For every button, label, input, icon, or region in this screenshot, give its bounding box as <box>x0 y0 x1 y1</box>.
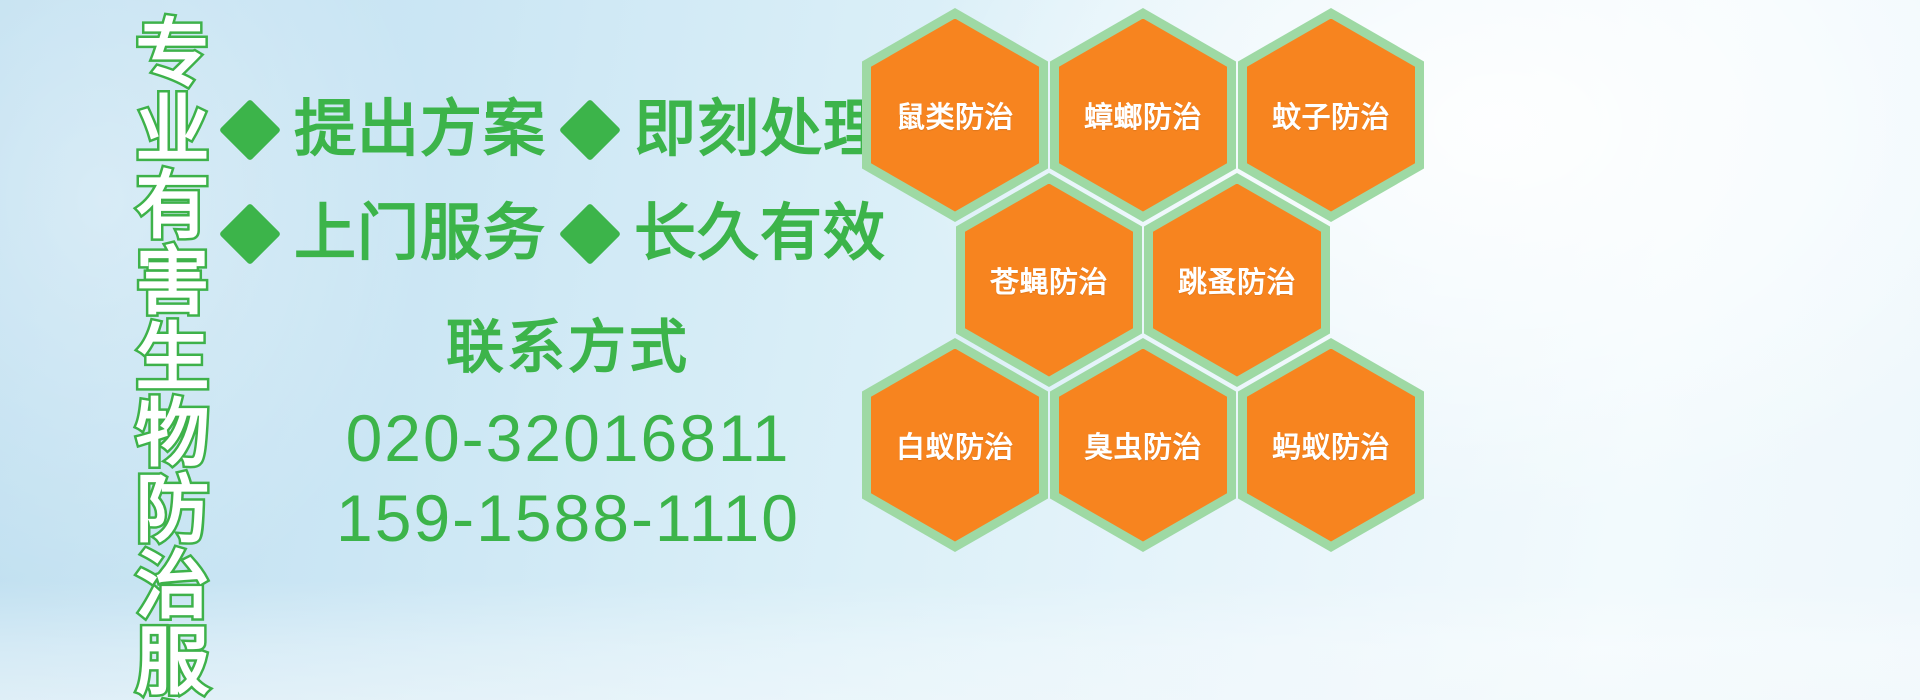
service-hex-inner: 蟑螂防治 <box>1059 19 1227 212</box>
contact-phone-mobile[interactable]: 159-1588-1110 <box>258 478 878 559</box>
diamond-bullet-icon <box>219 99 281 161</box>
service-hex-inner: 白蚁防治 <box>871 349 1039 542</box>
service-hex-inner: 臭虫防治 <box>1059 349 1227 542</box>
diamond-bullet-icon <box>559 203 621 265</box>
service-hex-inner: 跳蚤防治 <box>1153 184 1321 377</box>
feature-label: 即刻处理 <box>634 99 886 161</box>
service-hex-label: 蚂蚁防治 <box>1272 424 1390 466</box>
contact-title: 联系方式 <box>258 316 878 380</box>
feature-item: 长久有效 <box>568 203 886 265</box>
feature-item: 即刻处理 <box>568 99 886 161</box>
service-hex-inner: 蚂蚁防治 <box>1247 349 1415 542</box>
service-hex-label: 蟑螂防治 <box>1084 94 1202 136</box>
feature-row: 上门服务 长久有效 <box>228 182 878 286</box>
service-hex-label: 蚊子防治 <box>1272 94 1390 136</box>
vertical-headline: 专业有害生物防治服务 <box>108 14 204 700</box>
service-hex-inner: 鼠类防治 <box>871 19 1039 212</box>
feature-row: 提出方案 即刻处理 <box>228 78 878 182</box>
service-hex-inner: 苍蝇防治 <box>965 184 1133 377</box>
pest-control-service-banner: 专业有害生物防治服务 提出方案 即刻处理 上门服务 长久有效 联 <box>0 0 1920 700</box>
feature-label: 长久有效 <box>634 203 886 265</box>
service-hex-inner: 蚊子防治 <box>1247 19 1415 212</box>
feature-item: 上门服务 <box>228 203 546 265</box>
service-hex-label: 臭虫防治 <box>1084 424 1202 466</box>
service-hex-label: 白蚁防治 <box>896 424 1014 466</box>
service-hex-label: 苍蝇防治 <box>990 259 1108 301</box>
feature-label: 提出方案 <box>294 99 546 161</box>
contact-phone-landline[interactable]: 020-32016811 <box>258 398 878 479</box>
service-hex-label: 鼠类防治 <box>896 94 1014 136</box>
diamond-bullet-icon <box>219 203 281 265</box>
diamond-bullet-icon <box>559 99 621 161</box>
service-hex-label: 跳蚤防治 <box>1178 259 1296 301</box>
feature-list: 提出方案 即刻处理 上门服务 长久有效 <box>228 78 878 286</box>
background-floor-wash <box>0 580 1920 700</box>
contact-block: 联系方式 020-32016811 159-1588-1110 <box>258 316 878 559</box>
feature-label: 上门服务 <box>294 203 546 265</box>
service-honeycomb: 鼠类防治 蟑螂防治 蚊子防治 苍蝇防治 跳蚤防治 白蚁防治 <box>862 8 1442 553</box>
feature-item: 提出方案 <box>228 99 546 161</box>
